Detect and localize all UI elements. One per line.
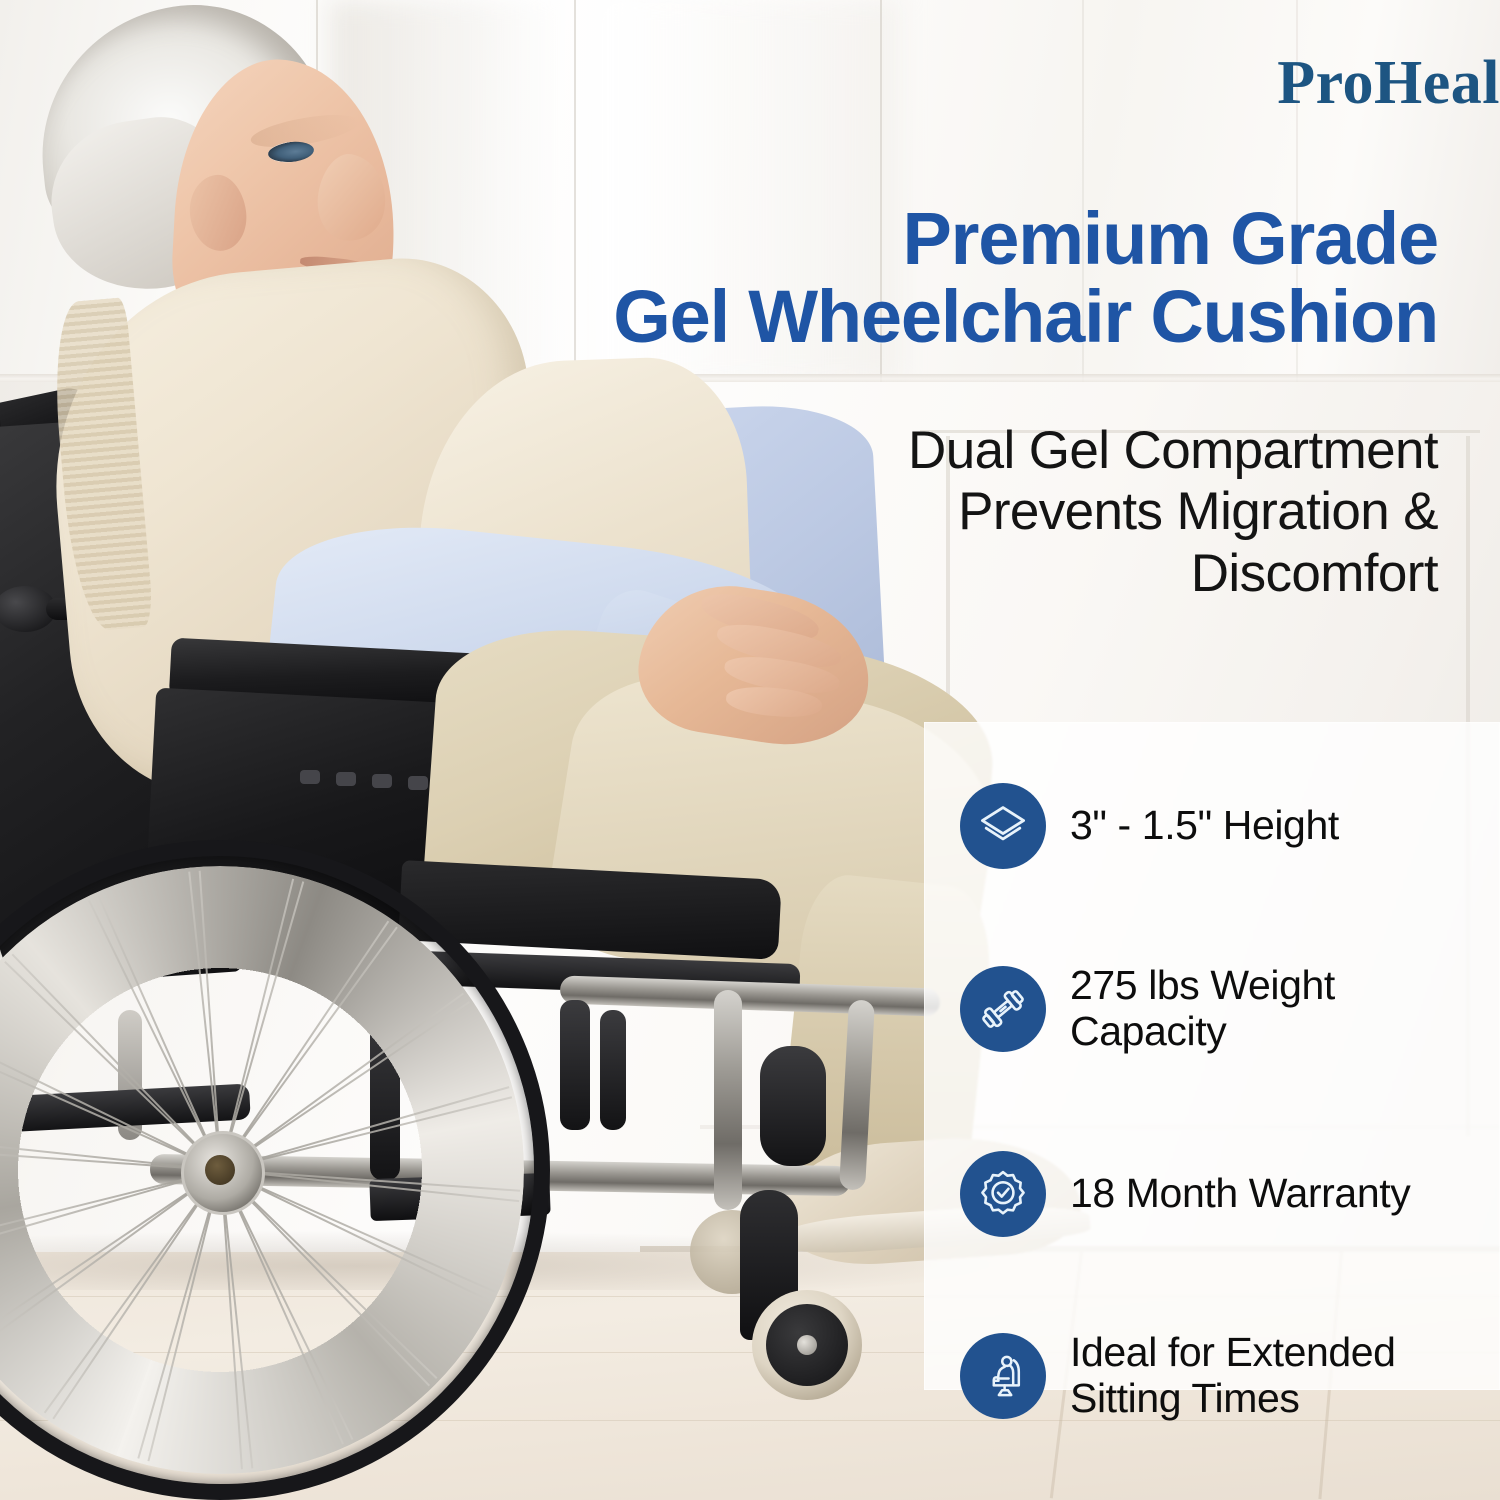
- feature-label-weight: 275 lbs Weight Capacity: [1070, 963, 1480, 1055]
- subheadline-line-1: Dual Gel Compartment: [658, 420, 1438, 481]
- bracket-post-2: [600, 1010, 626, 1130]
- warranty-badge-icon: [960, 1151, 1046, 1237]
- subheadline: Dual Gel Compartment Prevents Migration …: [658, 420, 1438, 604]
- feature-label-height: 3" - 1.5" Height: [1070, 803, 1339, 849]
- subheadline-line-2: Prevents Migration &: [658, 481, 1438, 542]
- layers-icon: [960, 783, 1046, 869]
- headline: Premium Grade Gel Wheelchair Cushion: [428, 200, 1438, 357]
- bracket-post-1: [560, 1000, 590, 1130]
- product-marketing-image: ProHeal Premium Grade Gel Wheelchair Cus…: [0, 0, 1500, 1500]
- headline-line-2: Gel Wheelchair Cushion: [428, 278, 1438, 356]
- brand-logo-text: ProHeal: [1277, 49, 1500, 117]
- side-guard-vent-4: [408, 776, 428, 790]
- wheel-axle: [205, 1155, 235, 1185]
- feature-label-sitting: Ideal for Extended Sitting Times: [1070, 1330, 1480, 1422]
- feature-item-weight: 275 lbs Weight Capacity: [960, 926, 1480, 1092]
- seated-person-icon: [960, 1333, 1046, 1419]
- caster-housing: [760, 1046, 826, 1166]
- caster-bolt: [797, 1335, 817, 1355]
- headline-line-1: Premium Grade: [903, 197, 1439, 280]
- feature-item-height: 3" - 1.5" Height: [960, 760, 1480, 892]
- feature-list: 3" - 1.5" Height 275 lbs Weight Capacity: [960, 760, 1480, 1456]
- front-upright: [714, 990, 742, 1210]
- side-guard-vent-1: [300, 770, 320, 784]
- side-guard-vent-2: [336, 772, 356, 786]
- brand-logo: ProHeal: [0, 52, 1500, 114]
- subheadline-line-3: Discomfort: [658, 543, 1438, 604]
- front-caster-wheel: [752, 1290, 862, 1400]
- dumbbell-icon: [960, 966, 1046, 1052]
- feature-label-warranty: 18 Month Warranty: [1070, 1171, 1410, 1217]
- side-guard-vent-3: [372, 774, 392, 788]
- feature-item-sitting: Ideal for Extended Sitting Times: [960, 1296, 1480, 1456]
- feature-item-warranty: 18 Month Warranty: [960, 1126, 1480, 1262]
